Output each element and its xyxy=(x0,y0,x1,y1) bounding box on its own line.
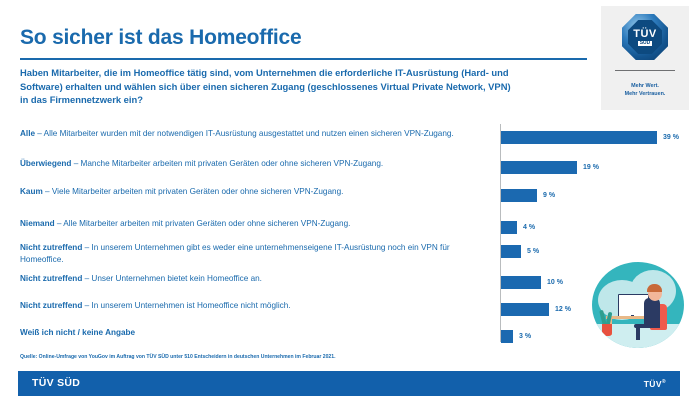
answer-label-bold: Nicht zutreffend xyxy=(20,301,82,310)
bar-value-6: 10 % xyxy=(547,279,563,286)
registered-symbol: ® xyxy=(662,379,666,385)
homeoffice-illustration xyxy=(592,262,684,348)
answer-label-bold: Weiß ich nicht / keine Angabe xyxy=(20,328,135,337)
answer-label-rest: – In unserem Unternehmen ist Homeoffice … xyxy=(82,301,290,310)
answer-label-rest: – Viele Mitarbeiter arbeiten mit private… xyxy=(43,187,344,196)
bar-2 xyxy=(501,161,577,174)
answer-label-bold: Nicht zutreffend xyxy=(20,243,82,252)
footer-mark-text: TÜV xyxy=(644,379,662,389)
answer-label-rest: – Manche Mitarbeiter arbeiten mit privat… xyxy=(71,159,383,168)
answer-label-2: Überwiegend – Manche Mitarbeiter arbeite… xyxy=(20,158,490,170)
bar-value-1: 39 % xyxy=(663,134,679,141)
answer-label-8: Weiß ich nicht / keine Angabe xyxy=(20,327,490,339)
answer-label-7: Nicht zutreffend – In unserem Unternehme… xyxy=(20,300,490,312)
tuv-sud-logo-badge: TÜV SÜD Mehr Wert. Mehr Vertrauen. xyxy=(601,6,689,110)
footer-logo-mark: TÜV® xyxy=(644,379,666,389)
plant-icon xyxy=(602,324,612,336)
badge-tagline: Mehr Wert. Mehr Vertrauen. xyxy=(601,82,689,98)
answer-label-rest: – In unserem Unternehmen gibt es weder e… xyxy=(20,243,450,264)
bar-5 xyxy=(501,245,521,258)
bar-value-4: 4 % xyxy=(523,224,535,231)
page-title: So sicher ist das Homeoffice xyxy=(20,26,302,50)
answer-label-6: Nicht zutreffend – Unser Unternehmen bie… xyxy=(20,273,490,285)
bar-1 xyxy=(501,131,657,144)
bar-4 xyxy=(501,221,517,234)
answer-label-5: Nicht zutreffend – In unserem Unternehme… xyxy=(20,242,490,265)
answer-label-bold: Überwiegend xyxy=(20,159,71,168)
bar-6 xyxy=(501,276,541,289)
bar-value-3: 9 % xyxy=(543,192,555,199)
footer-brand: TÜV SÜD xyxy=(32,377,80,389)
logo-mark-bottom: SÜD xyxy=(638,41,653,46)
answer-label-rest: – Alle Mitarbeiter wurden mit der notwen… xyxy=(35,129,454,138)
source-note: Quelle: Online-Umfrage von YouGov im Auf… xyxy=(20,354,336,360)
title-divider xyxy=(20,58,587,60)
tuv-sud-octagon-logo-icon: TÜV SÜD xyxy=(622,14,668,60)
answer-label-bold: Alle xyxy=(20,129,35,138)
answer-label-bold: Niemand xyxy=(20,219,55,228)
survey-question: Haben Mitarbeiter, die im Homeoffice tät… xyxy=(20,66,520,107)
bar-value-5: 5 % xyxy=(527,248,539,255)
answer-label-4: Niemand – Alle Mitarbeiter arbeiten mit … xyxy=(20,218,490,230)
infographic-page: So sicher ist das Homeoffice Haben Mitar… xyxy=(0,0,698,400)
answer-label-rest: – Alle Mitarbeiter arbeiten mit privaten… xyxy=(55,219,351,228)
answer-label-bold: Kaum xyxy=(20,187,43,196)
footer-bar: TÜV SÜD TÜV® xyxy=(18,371,680,396)
bar-3 xyxy=(501,189,537,202)
badge-divider xyxy=(615,70,675,71)
answer-label-rest: – Unser Unternehmen bietet kein Homeoffi… xyxy=(82,274,262,283)
answer-label-3: Kaum – Viele Mitarbeiter arbeiten mit pr… xyxy=(20,186,490,198)
bar-value-8: 3 % xyxy=(519,333,531,340)
answer-label-bold: Nicht zutreffend xyxy=(20,274,82,283)
bar-7 xyxy=(501,303,549,316)
bar-value-2: 19 % xyxy=(583,164,599,171)
logo-mark-top: TÜV xyxy=(633,29,657,40)
bar-8 xyxy=(501,330,513,343)
answer-label-1: Alle – Alle Mitarbeiter wurden mit der n… xyxy=(20,128,490,140)
bar-value-7: 12 % xyxy=(555,306,571,313)
